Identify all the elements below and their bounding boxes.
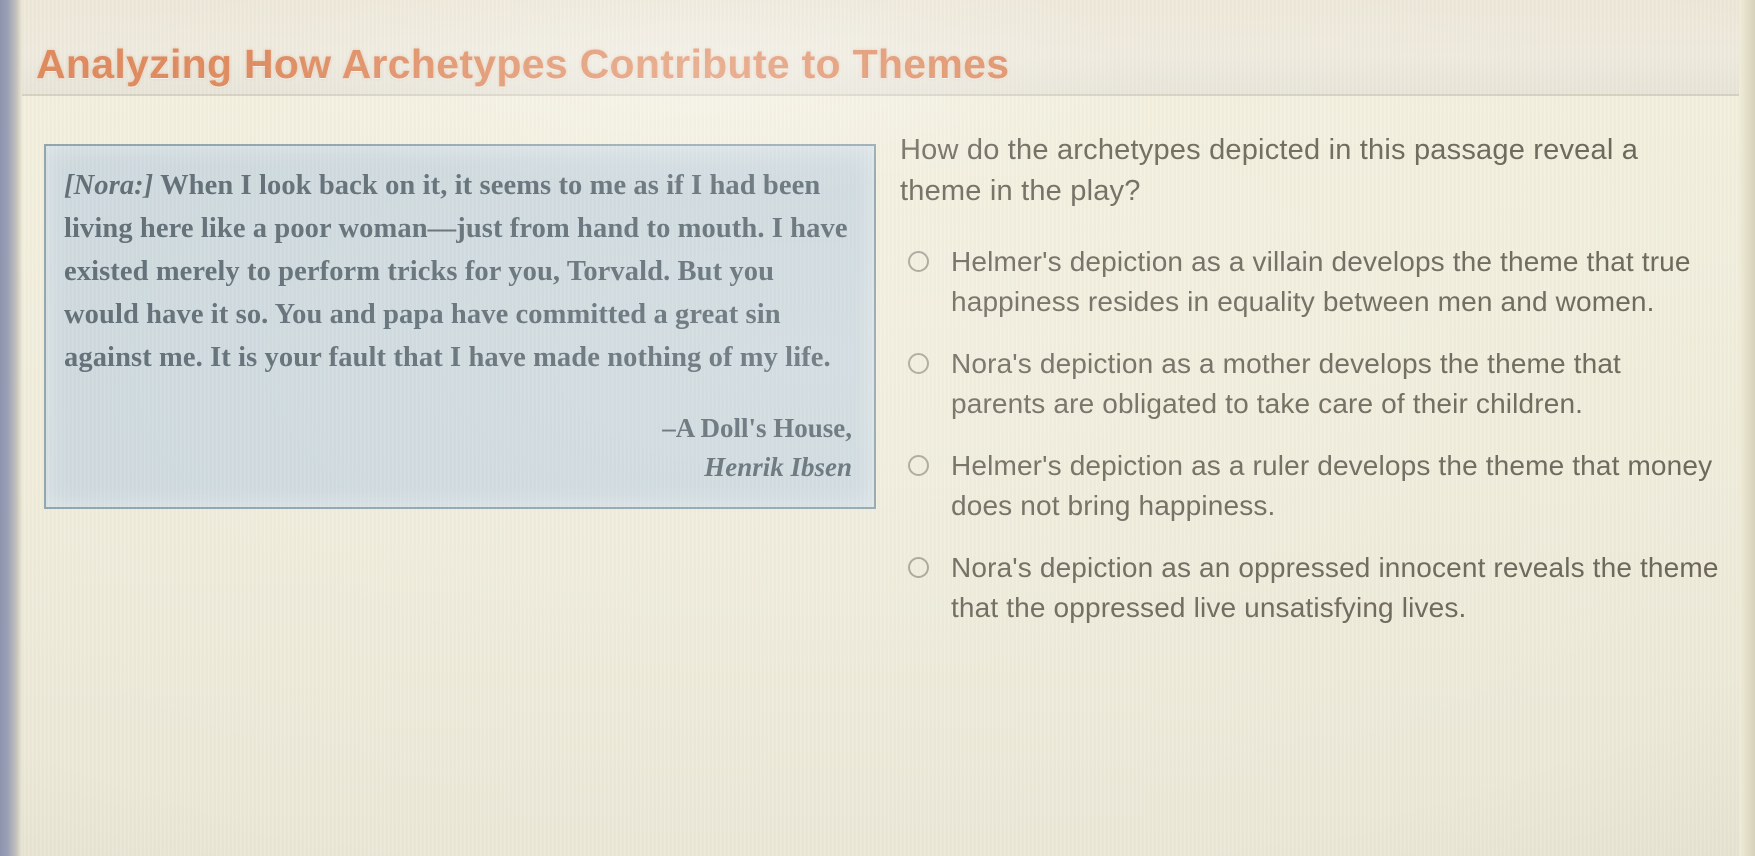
passage-body: When I look back on it, it seems to me a… <box>64 170 848 373</box>
question-panel: How do the archetypes depicted in this p… <box>900 130 1720 650</box>
passage-author: Henrik Ibsen <box>64 448 852 487</box>
passage-box: [Nora:] When I look back on it, it seems… <box>44 144 876 509</box>
answer-choice-label: Nora's depiction as an oppressed innocen… <box>951 548 1720 628</box>
radio-button-icon[interactable] <box>908 455 929 476</box>
passage-text: [Nora:] When I look back on it, it seems… <box>64 164 852 379</box>
passage-attribution: –A Doll's House, Henrik Ibsen <box>64 409 852 487</box>
answer-choice-b[interactable]: Nora's depiction as a mother develops th… <box>900 344 1720 424</box>
question-prompt: How do the archetypes depicted in this p… <box>900 130 1720 212</box>
answer-choice-list: Helmer's depiction as a villain develops… <box>900 242 1720 628</box>
page-title: Analyzing How Archetypes Contribute to T… <box>36 41 1009 88</box>
answer-choice-label: Nora's depiction as a mother develops th… <box>951 344 1720 424</box>
radio-button-icon[interactable] <box>908 557 929 578</box>
answer-choice-label: Helmer's depiction as a ruler develops t… <box>951 446 1720 526</box>
radio-button-icon[interactable] <box>908 353 929 374</box>
answer-choice-d[interactable]: Nora's depiction as an oppressed innocen… <box>900 548 1720 628</box>
passage-source-title: –A Doll's House, <box>64 409 852 448</box>
radio-button-icon[interactable] <box>908 251 929 272</box>
answer-choice-a[interactable]: Helmer's depiction as a villain develops… <box>900 242 1720 322</box>
quiz-screen: Analyzing How Archetypes Contribute to T… <box>0 0 1755 856</box>
answer-choice-label: Helmer's depiction as a villain develops… <box>951 242 1720 322</box>
answer-choice-c[interactable]: Helmer's depiction as a ruler develops t… <box>900 446 1720 526</box>
passage-speaker: [Nora:] <box>64 170 153 201</box>
